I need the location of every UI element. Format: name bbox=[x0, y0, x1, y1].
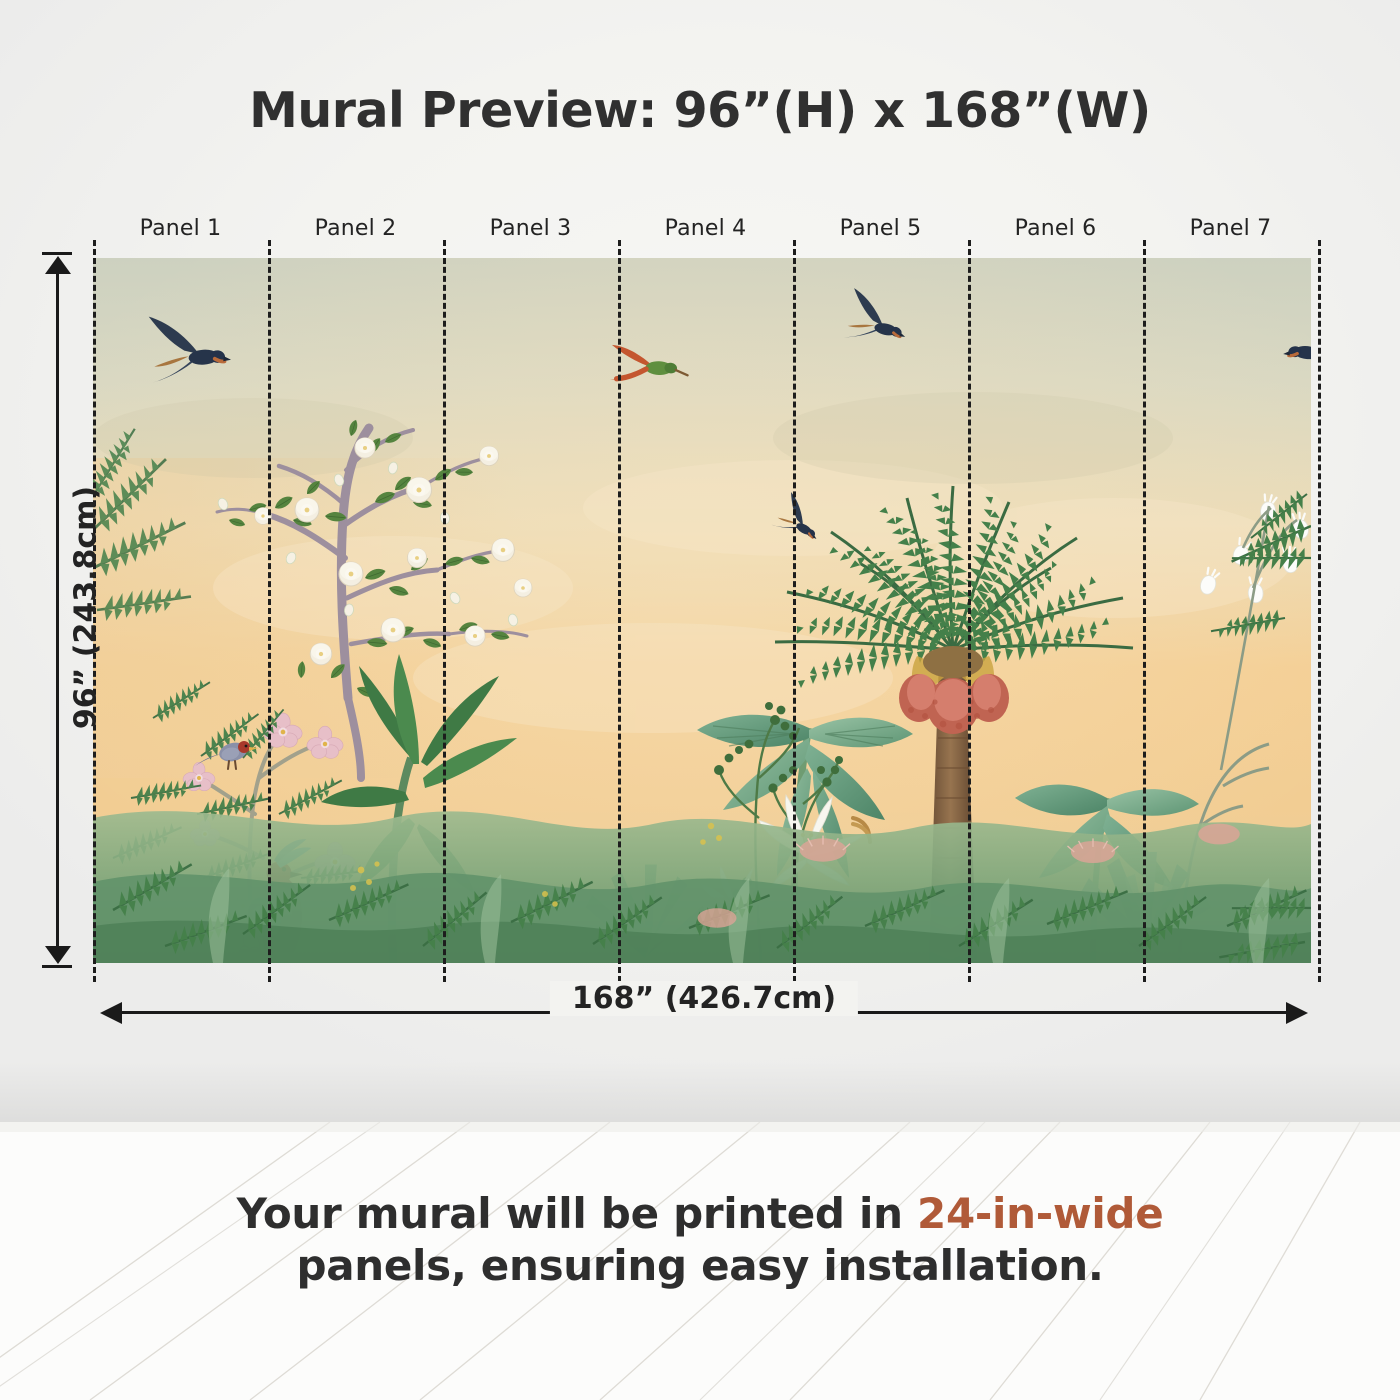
caption-highlight: 24-in-wide bbox=[917, 1189, 1163, 1238]
panel-label-6: Panel 6 bbox=[968, 216, 1143, 241]
mural-artwork bbox=[93, 258, 1311, 963]
mural-preview-frame[interactable] bbox=[93, 258, 1311, 963]
panel-divider-1 bbox=[268, 240, 271, 982]
panel-divider-2 bbox=[443, 240, 446, 982]
height-arrow-shaft bbox=[56, 260, 59, 960]
panel-label-7: Panel 7 bbox=[1143, 216, 1318, 241]
width-arrowhead-left bbox=[100, 1002, 122, 1024]
panel-divider-7 bbox=[1318, 240, 1321, 982]
page-title: Mural Preview: 96”(H) x 168”(W) bbox=[0, 82, 1400, 139]
panel-divider-4 bbox=[793, 240, 796, 982]
width-dimension: 168” (426.7cm) bbox=[100, 1002, 1308, 1024]
height-arrowhead-down bbox=[45, 946, 71, 964]
panel-label-2: Panel 2 bbox=[268, 216, 443, 241]
height-arrowhead-up bbox=[45, 256, 71, 274]
panel-label-row: Panel 1 Panel 2 Panel 3 Panel 4 Panel 5 … bbox=[93, 216, 1322, 248]
caption-line-1-before: Your mural will be printed in bbox=[237, 1189, 917, 1238]
caption: Your mural will be printed in 24-in-wide… bbox=[0, 1188, 1400, 1292]
width-arrowhead-right bbox=[1286, 1002, 1308, 1024]
panel-label-3: Panel 3 bbox=[443, 216, 618, 241]
panel-divider-5 bbox=[968, 240, 971, 982]
panel-label-1: Panel 1 bbox=[93, 216, 268, 241]
height-dimension-label: 96” (243.8cm) bbox=[69, 408, 104, 808]
panel-label-5: Panel 5 bbox=[793, 216, 968, 241]
width-dimension-label: 168” (426.7cm) bbox=[550, 981, 858, 1016]
panel-divider-3 bbox=[618, 240, 621, 982]
caption-line-2: panels, ensuring easy installation. bbox=[0, 1240, 1400, 1292]
height-dimension: 96” (243.8cm) bbox=[36, 252, 82, 968]
panel-divider-6 bbox=[1143, 240, 1146, 982]
height-cap-bottom bbox=[42, 965, 72, 968]
caption-line-1: Your mural will be printed in 24-in-wide bbox=[0, 1188, 1400, 1240]
panel-label-4: Panel 4 bbox=[618, 216, 793, 241]
height-cap-top bbox=[42, 252, 72, 255]
